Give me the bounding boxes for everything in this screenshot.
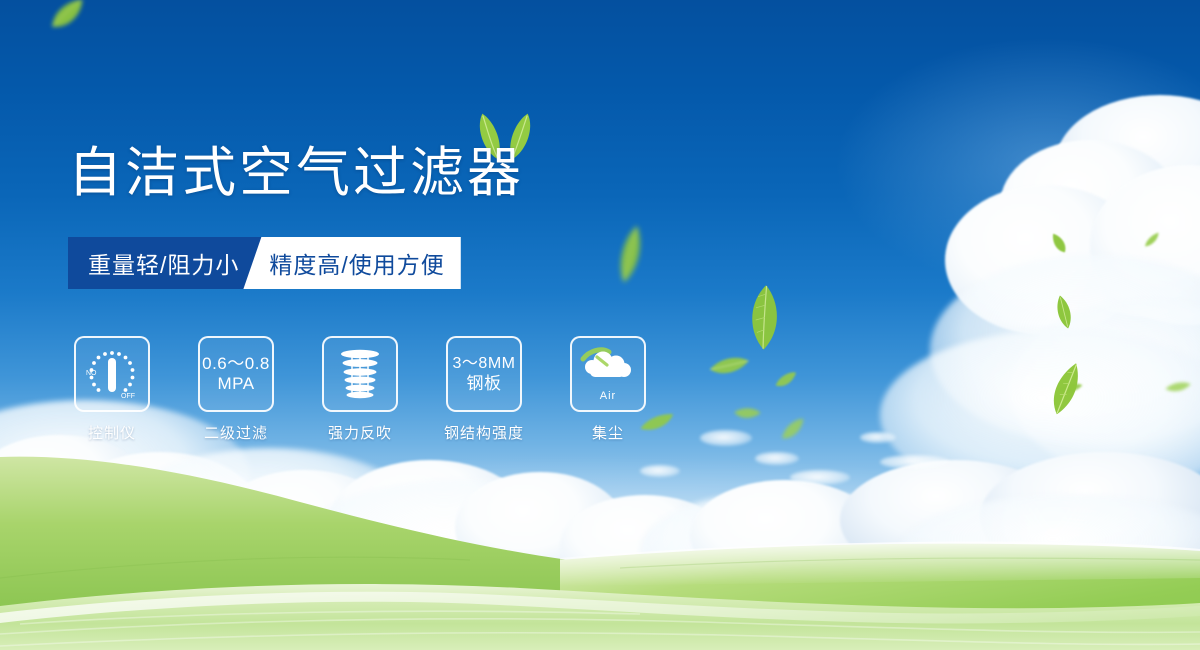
leaf-mid-b [728,281,799,354]
leaf-right-a [1047,230,1071,256]
gauge-off-label: OFF [121,393,135,400]
page-title: 自洁式空气过滤器 [68,143,524,203]
leaf-far-right [1165,378,1191,396]
leaf-right-c [1059,381,1082,395]
feature-icon-box: 3～8MM 钢板 [446,336,522,412]
cloud-air-icon [579,347,637,389]
air-label-text: Air [600,390,616,402]
feature-caption: 二级过滤 [204,422,268,443]
subtitle-segment-left: 重量轻/阻力小 [68,237,261,289]
leaf-right-d [1142,232,1163,248]
cloud-right-upper-lobe [1000,140,1180,270]
leaf-mid-a [610,223,649,286]
feature-caption: 钢结构强度 [444,422,524,443]
feature-item-dust[interactable]: Air 集尘 [566,336,650,443]
steel-thickness-text: 3～8MM [453,354,516,374]
gauge-icon: NO OFF [82,344,142,404]
feature-caption: 集尘 [592,422,624,443]
feature-icon-box [322,336,398,412]
feature-caption: 强力反吹 [328,422,392,443]
sky-glow-upper-right [760,0,1200,300]
leaf-mid-d [774,371,798,390]
leaf-center-large [1037,361,1095,416]
feature-icon-box: Air [570,336,646,412]
cloud-right-lobe-a [945,185,1145,335]
feature-item-backflush[interactable]: 强力反吹 [318,336,402,443]
feature-icon-box: 0.6～0.8 MPA [198,336,274,412]
grass-field [0,410,1200,650]
cloud-right-lobe-b [1090,165,1200,325]
feature-item-pressure[interactable]: 0.6～0.8 MPA 二级过滤 [194,336,278,443]
cloud-right-main [1015,118,1200,318]
subtitle-ribbon: 重量轻/阻力小 精度高/使用方便 [68,237,464,289]
feature-caption: 控制仪 [88,422,136,443]
leaf-right-b [1051,293,1077,330]
subtitle-segment-right: 精度高/使用方便 [243,237,460,289]
gauge-no-label: NO [86,370,97,377]
pressure-unit-text: MPA [217,374,254,394]
leaf-top-left [45,0,92,35]
feature-list: NO OFF 控制仪 0.6～0.8 MPA 二级过滤 [70,336,650,443]
leaf-mid-c [709,348,749,383]
coil-filter-icon [332,346,388,402]
pressure-range-text: 0.6～0.8 [202,354,270,374]
feature-icon-box: NO OFF [74,336,150,412]
feature-item-controller[interactable]: NO OFF 控制仪 [70,336,154,443]
steel-plate-text: 钢板 [467,374,502,394]
cloud-right-top [1055,95,1200,235]
feature-item-steel[interactable]: 3～8MM 钢板 钢结构强度 [442,336,526,443]
hero-banner: 自洁式空气过滤器 重量轻/阻力小 精度高/使用方便 [0,0,1200,650]
